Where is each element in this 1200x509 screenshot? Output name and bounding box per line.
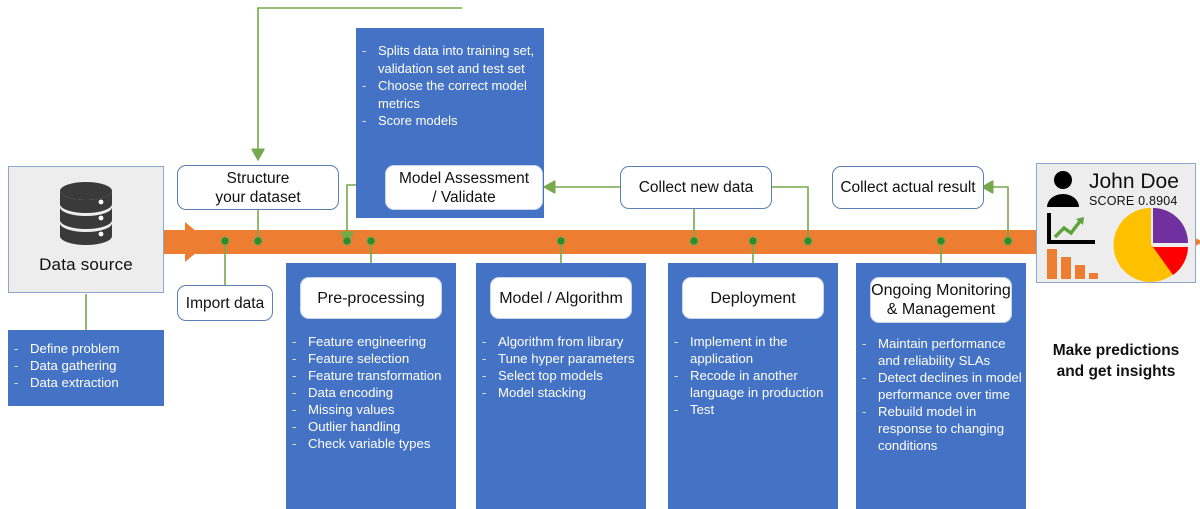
list-item: Score models <box>356 112 544 130</box>
stage-title-label: Pre-processing <box>317 289 425 308</box>
stage-title-deployment[interactable]: Deployment <box>682 277 824 319</box>
list-item: Splits data into training set, validatio… <box>356 42 544 77</box>
define-problem-box: Define problem Data gathering Data extra… <box>8 330 164 406</box>
define-problem-list: Define problem Data gathering Data extra… <box>8 340 160 391</box>
callout-structure-line2: your dataset <box>215 188 300 207</box>
list-item: Data encoding <box>286 384 456 401</box>
list-item: Implement in the application <box>668 333 838 367</box>
list-item: Maintain performance and reliability SLA… <box>856 335 1026 369</box>
tagline-line2: and get insights <box>1030 361 1200 382</box>
stage-title-ongoing-monitoring[interactable]: Ongoing Monitoring & Management <box>870 277 1012 323</box>
list-item: Select top models <box>476 367 646 384</box>
callout-collect-actual-result-label: Collect actual result <box>840 178 975 197</box>
person-icon <box>1043 168 1083 208</box>
list-item: Recode in another language in production <box>668 367 838 401</box>
stage-title-label: Model / Algorithm <box>499 289 623 308</box>
tagline: Make predictions and get insights <box>1030 340 1200 382</box>
list-item: Data extraction <box>8 374 160 391</box>
list-item: Feature transformation <box>286 367 456 384</box>
list-item: Detect declines in model performance ove… <box>856 369 1026 403</box>
pie-chart-icon <box>1109 208 1193 282</box>
data-source-panel: Data source <box>8 166 164 293</box>
list-item: Choose the correct model metrics <box>356 77 544 112</box>
list-item: Model stacking <box>476 384 646 401</box>
list-item: Data gathering <box>8 357 160 374</box>
result-panel: John Doe SCORE 0.8904 <box>1036 163 1196 283</box>
bar-chart-icon <box>1045 247 1099 281</box>
callout-import-data-label: Import data <box>186 294 264 313</box>
stage-panel-model-algorithm: Model / Algorithm Algorithm from library… <box>476 263 646 509</box>
list-item: Check variable types <box>286 435 456 452</box>
stage-title-model-algorithm[interactable]: Model / Algorithm <box>490 277 632 319</box>
callout-import-data[interactable]: Import data <box>177 285 273 321</box>
model-assessment-line1: Model Assessment <box>399 169 529 188</box>
stage-list-deployment: Implement in the application Recode in a… <box>668 333 838 418</box>
callout-structure-dataset[interactable]: Structure your dataset <box>177 165 339 210</box>
data-source-label: Data source <box>39 255 133 275</box>
list-item: Test <box>668 401 838 418</box>
stage-title-line2: & Management <box>887 300 996 319</box>
model-assessment-line2: / Validate <box>432 188 495 207</box>
list-item: Outlier handling <box>286 418 456 435</box>
stage-list-ongoing-monitoring: Maintain performance and reliability SLA… <box>856 335 1026 454</box>
stage-title-pre-processing[interactable]: Pre-processing <box>300 277 442 319</box>
list-item: Tune hyper parameters <box>476 350 646 367</box>
list-item: Rebuild model in response to changing co… <box>856 403 1026 454</box>
stage-title-line1: Ongoing Monitoring <box>871 281 1011 300</box>
stage-title-label: Deployment <box>710 289 795 308</box>
list-item: Feature selection <box>286 350 456 367</box>
list-item: Define problem <box>8 340 160 357</box>
list-item: Missing values <box>286 401 456 418</box>
list-item: Algorithm from library <box>476 333 646 350</box>
stage-panel-deployment: Deployment Implement in the application … <box>668 263 838 509</box>
list-item: Feature engineering <box>286 333 456 350</box>
callout-model-assessment[interactable]: Model Assessment / Validate <box>385 165 543 210</box>
database-icon <box>49 177 123 251</box>
callout-collect-actual-result[interactable]: Collect actual result <box>832 166 984 209</box>
stage-list-pre-processing: Feature engineering Feature selection Fe… <box>286 333 456 452</box>
model-assessment-list: Splits data into training set, validatio… <box>356 28 544 130</box>
callout-collect-new-data-label: Collect new data <box>639 178 754 197</box>
result-score: SCORE 0.8904 <box>1089 194 1178 208</box>
stage-panel-pre-processing: Pre-processing Feature engineering Featu… <box>286 263 456 509</box>
callout-structure-line1: Structure <box>227 169 290 188</box>
callout-collect-new-data[interactable]: Collect new data <box>620 166 772 209</box>
tagline-line1: Make predictions <box>1030 340 1200 361</box>
result-name: John Doe <box>1089 170 1179 194</box>
line-chart-icon <box>1045 211 1099 247</box>
stage-panel-ongoing-monitoring: Ongoing Monitoring & Management Maintain… <box>856 263 1026 509</box>
stage-list-model-algorithm: Algorithm from library Tune hyper parame… <box>476 333 646 401</box>
